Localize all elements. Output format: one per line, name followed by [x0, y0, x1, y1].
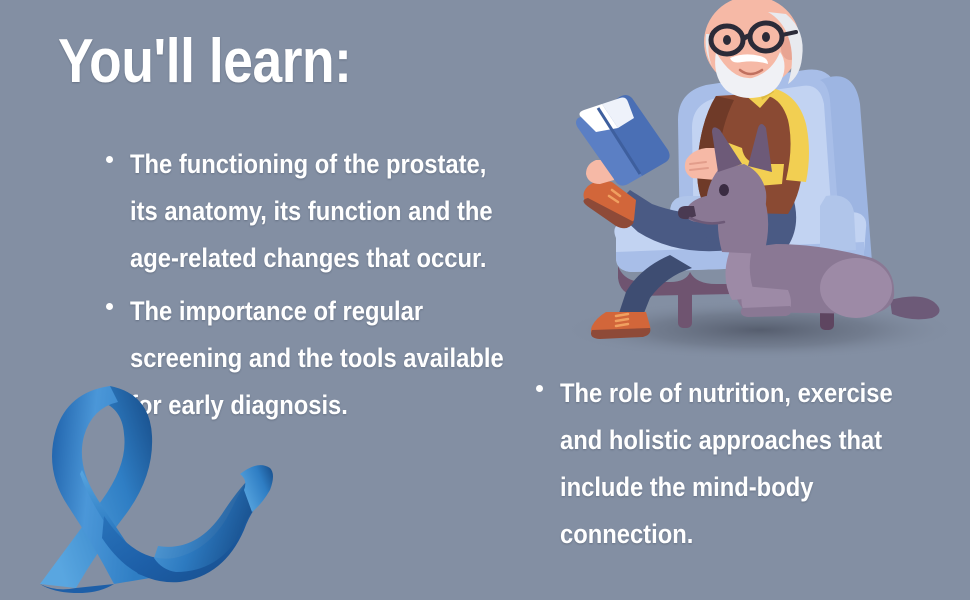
- bullet-dot-icon: [106, 303, 113, 310]
- dog-haunch: [820, 258, 892, 318]
- bullet-dot-icon: [536, 385, 543, 392]
- dog-eye: [719, 184, 729, 196]
- list-item: The functioning of the prostate, its ana…: [100, 141, 520, 282]
- prostate-health-course-banner: You'll learn:: [0, 0, 970, 600]
- bullet-text: The role of nutrition, exercise and holi…: [560, 370, 928, 558]
- bullet-dot-icon: [106, 156, 113, 163]
- eye-right: [762, 32, 770, 42]
- blue-awareness-ribbon-icon: [18, 378, 278, 593]
- elderly-man-reading-illustration: [520, 0, 970, 370]
- chair-right-arm: [820, 195, 856, 252]
- chair-leg-front: [678, 284, 692, 328]
- page-title: You'll learn:: [58, 27, 351, 97]
- right-bullet-list: The role of nutrition, exercise and holi…: [530, 370, 930, 564]
- list-item: The role of nutrition, exercise and holi…: [530, 370, 930, 558]
- dog-tail: [890, 296, 940, 319]
- eye-left: [723, 35, 731, 45]
- bullet-text: The functioning of the prostate, its ana…: [130, 141, 518, 282]
